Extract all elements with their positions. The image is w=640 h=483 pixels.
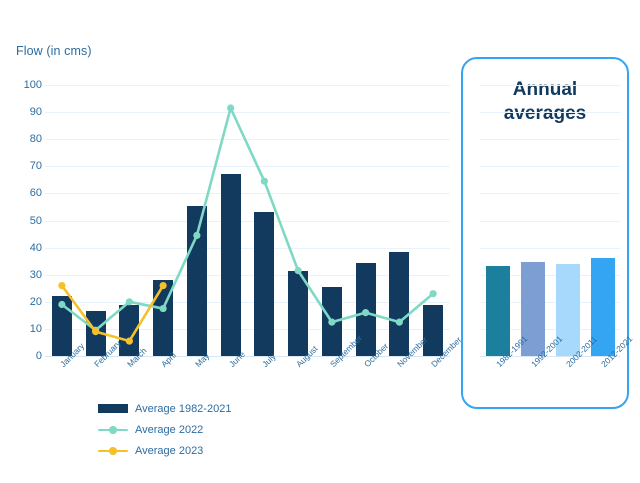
gridline <box>480 221 620 222</box>
gridline <box>480 248 620 249</box>
legend-bar-swatch <box>98 404 128 413</box>
y-axis-tick: 100 <box>6 79 42 91</box>
line-marker <box>295 267 302 274</box>
line-path <box>62 286 163 342</box>
legend-label: Average 2022 <box>135 424 203 436</box>
line-marker <box>126 337 133 344</box>
annual-plot-area <box>480 85 620 356</box>
line-series-layer <box>45 85 450 356</box>
legend-item[interactable]: Average 1982-2021 <box>98 398 231 419</box>
y-axis-tick: 0 <box>6 350 42 362</box>
y-axis-tick: 60 <box>6 187 42 199</box>
y-axis-tick: 20 <box>6 296 42 308</box>
line-marker <box>193 232 200 239</box>
chart-legend: Average 1982-2021Average 2022Average 202… <box>98 398 231 461</box>
line-marker <box>58 301 65 308</box>
line-marker <box>261 178 268 185</box>
legend-line-swatch <box>98 446 128 456</box>
chart-canvas: Flow (in cms) 1009080706050403020100 Jan… <box>0 0 640 483</box>
line-marker <box>126 298 133 305</box>
y-axis-tick: 30 <box>6 269 42 281</box>
legend-label: Average 2023 <box>135 445 203 457</box>
legend-dot <box>109 426 117 434</box>
y-axis-tick: 70 <box>6 160 42 172</box>
line-marker <box>92 328 99 335</box>
legend-item[interactable]: Average 2022 <box>98 419 231 440</box>
gridline <box>480 112 620 113</box>
y-axis-tick: 10 <box>6 323 42 335</box>
legend-label: Average 1982-2021 <box>135 403 231 415</box>
line-marker <box>430 290 437 297</box>
gridline <box>480 166 620 167</box>
legend-line-swatch <box>98 425 128 435</box>
line-marker <box>362 309 369 316</box>
gridline <box>480 85 620 86</box>
line-marker <box>328 319 335 326</box>
legend-item[interactable]: Average 2023 <box>98 440 231 461</box>
gridline <box>480 139 620 140</box>
y-axis-tick: 80 <box>6 133 42 145</box>
main-plot-area <box>45 85 450 356</box>
y-axis-tick: 50 <box>6 215 42 227</box>
y-axis-tick-labels: 1009080706050403020100 <box>0 85 42 356</box>
line-marker <box>58 282 65 289</box>
annual-bar <box>486 266 510 356</box>
line-marker <box>396 319 403 326</box>
y-axis-title: Flow (in cms) <box>16 44 92 58</box>
line-path <box>62 108 433 330</box>
gridline <box>480 193 620 194</box>
y-axis-tick: 90 <box>6 106 42 118</box>
line-marker <box>160 282 167 289</box>
legend-dot <box>109 447 117 455</box>
y-axis-tick: 40 <box>6 242 42 254</box>
line-marker <box>227 104 234 111</box>
line-marker <box>160 305 167 312</box>
